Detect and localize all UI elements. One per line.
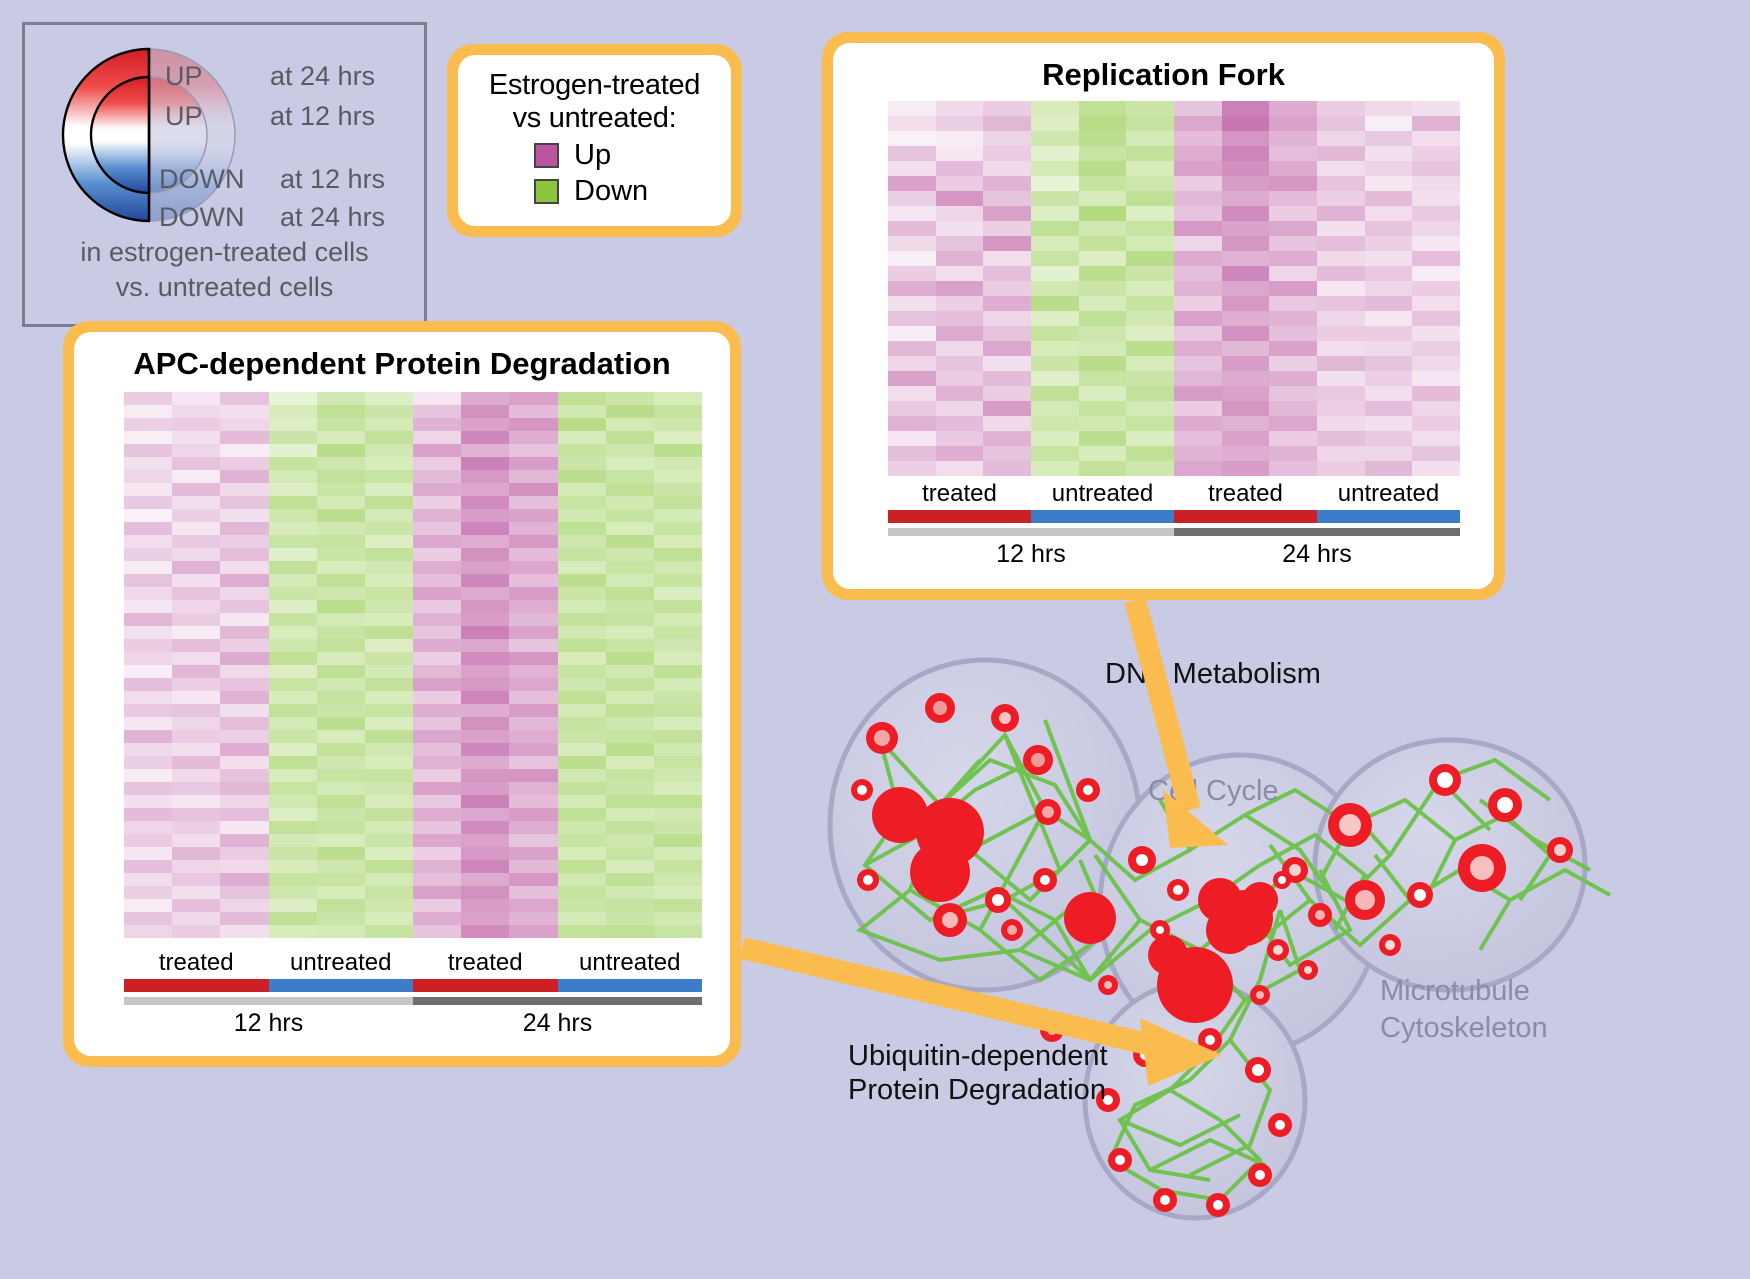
network-node [1242, 882, 1278, 918]
treated-bar [888, 510, 1031, 523]
panel-footer-apc: treated untreated treated untreated 12 h… [124, 949, 702, 1038]
panel-apc-dependent-protein-degradation: APC-dependent Protein Degradation treate… [63, 321, 741, 1067]
treated-bar [413, 979, 558, 992]
group-label: treated [124, 949, 269, 977]
time-label: 12 hrs [888, 540, 1174, 569]
cluster-label-microtubule: Microtubule [1380, 975, 1530, 1007]
group-label: treated [413, 949, 558, 977]
treated-bar [1174, 510, 1317, 523]
panel-footer-replication-fork: treated untreated treated untreated 12 h… [888, 480, 1460, 569]
heatmap-apc [124, 392, 702, 938]
group-label: treated [888, 480, 1031, 508]
cluster-label-ubiquitin-line2: Protein Degradation [848, 1074, 1106, 1106]
treated-bar [124, 979, 269, 992]
color-key-time-3: at 24 hrs [280, 202, 385, 233]
time-label: 24 hrs [413, 1009, 702, 1038]
untreated-bar [1317, 510, 1460, 523]
untreated-bar [558, 979, 703, 992]
color-key-box: UP at 24 hrs UP at 12 hrs DOWN at 12 hrs… [22, 22, 427, 327]
time-bars-apc [124, 997, 702, 1005]
time-bar-24hrs [413, 997, 702, 1005]
untreated-bar [269, 979, 414, 992]
color-key-time-0: at 24 hrs [270, 61, 375, 92]
color-key-word-3: DOWN [159, 202, 244, 233]
time-bars-replication-fork [888, 528, 1460, 536]
legend-item-down: Down [534, 175, 731, 208]
heatmap-replication-fork [888, 101, 1460, 476]
color-key-word-1: UP [165, 101, 203, 132]
network-node [1206, 906, 1254, 954]
group-labels-apc: treated untreated treated untreated [124, 949, 702, 977]
color-key-word-2: DOWN [159, 164, 244, 195]
group-labels-replication-fork: treated untreated treated untreated [888, 480, 1460, 508]
color-key-footer-line1: in estrogen-treated cells [25, 235, 424, 270]
time-label: 12 hrs [124, 1009, 413, 1038]
cluster-label-cytoskeleton: Cytoskeleton [1380, 1012, 1548, 1044]
cluster-label-cell-cycle: Cell Cycle [1148, 775, 1279, 807]
time-label: 24 hrs [1174, 540, 1460, 569]
color-key-word-0: UP [165, 61, 203, 92]
group-bars-apc [124, 979, 702, 992]
cluster-label-ubiquitin-line1: Ubiquitin-dependent [848, 1040, 1108, 1072]
legend-item-up: Up [534, 139, 731, 172]
color-key-footer: in estrogen-treated cells vs. untreated … [25, 235, 424, 304]
group-label: untreated [1031, 480, 1174, 508]
network-node [1064, 892, 1116, 944]
cluster-label-dna-metabolism: DNA Metabolism [1105, 658, 1321, 690]
legend-title-line2: vs untreated: [458, 102, 731, 135]
time-bar-12hrs [888, 528, 1174, 536]
panel-title-apc: APC-dependent Protein Degradation [74, 346, 730, 382]
untreated-bar [1031, 510, 1174, 523]
legend-item-up-label: Up [574, 139, 611, 172]
time-labels-replication-fork: 12 hrs 24 hrs [888, 540, 1460, 569]
time-labels-apc: 12 hrs 24 hrs [124, 1009, 702, 1038]
network-svg [790, 600, 1750, 1279]
color-key-time-1: at 12 hrs [270, 101, 375, 132]
network-node [910, 842, 970, 902]
color-key-time-2: at 12 hrs [280, 164, 385, 195]
up-swatch-icon [534, 143, 559, 168]
group-label: treated [1174, 480, 1317, 508]
group-bars-replication-fork [888, 510, 1460, 523]
color-key-footer-line2: vs. untreated cells [25, 270, 424, 305]
time-bar-24hrs [1174, 528, 1460, 536]
panel-title-replication-fork: Replication Fork [833, 57, 1494, 93]
group-label: untreated [558, 949, 703, 977]
color-key-wheel [61, 45, 241, 225]
down-swatch-icon [534, 179, 559, 204]
panel-replication-fork: Replication Fork treated untreated treat… [822, 32, 1505, 600]
network-diagram: DNA Metabolism Cell Cycle Microtubule Cy… [790, 600, 1750, 1279]
group-label: untreated [1317, 480, 1460, 508]
legend-title-line1: Estrogen-treated [458, 69, 731, 102]
legend-card: Estrogen-treated vs untreated: Up Down [447, 44, 742, 237]
time-bar-12hrs [124, 997, 413, 1005]
legend-item-down-label: Down [574, 175, 648, 208]
group-label: untreated [269, 949, 414, 977]
network-node [1148, 935, 1188, 975]
